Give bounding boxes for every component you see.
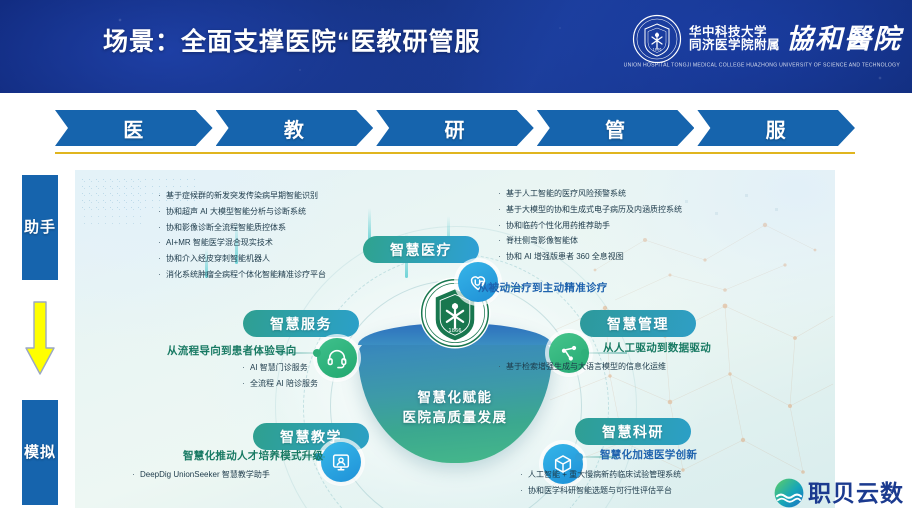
list-item: ·DeepDig UnionSeeker 智慧教学助手 <box>127 467 270 483</box>
bullets-smart-education: ·DeepDig UnionSeeker 智慧教学助手 <box>127 467 270 483</box>
chevron-step-jiao[interactable]: 教 <box>216 110 374 146</box>
list-item: ·协和介入经皮穿刺智能机器人 <box>153 251 326 267</box>
chevron-label: 教 <box>284 114 305 143</box>
list-item: ·人工智能 + 重大慢病新药临床试验管理系统 <box>515 467 681 483</box>
list-item: ·AI+MR 智能医学混合现实技术 <box>153 235 326 251</box>
list-item: ·脊柱侧弯影像智能体 <box>493 233 682 249</box>
tagline-smart-management: 从人工驱动到数据驱动 <box>603 340 711 355</box>
bullet-dot-icon: · <box>153 204 166 220</box>
bullet-dot-icon: · <box>493 233 506 249</box>
bullet-dot-icon: · <box>153 188 166 204</box>
svg-text:1866: 1866 <box>448 328 461 334</box>
bullet-text: 全流程 AI 陪诊服务 <box>250 376 318 392</box>
section-pill-smart-medical[interactable]: 智慧医疗 <box>363 236 479 263</box>
bullets-smart-medical-right: ·基于人工智能的医疗风险预警系统 ·基于大模型的协和生成式电子病历及内涵质控系统… <box>493 186 682 265</box>
logo-cn-lines: 华中科技大学 同济医学院附属 <box>689 26 780 53</box>
svg-text:1866: 1866 <box>653 48 662 52</box>
chevron-label: 研 <box>444 114 465 143</box>
list-item: ·消化系统肿瘤全病程个体化智能精准诊疗平台 <box>153 267 326 283</box>
watermark-logo: 职贝云数 <box>773 477 904 509</box>
chevron-step-yi[interactable]: 医 <box>55 110 213 146</box>
tagline-smart-service: 从流程导向到患者体验导向 <box>167 343 297 358</box>
bullet-dot-icon: · <box>153 267 166 283</box>
chevron-step-fu[interactable]: 服 <box>697 110 855 146</box>
headset-icon <box>317 338 357 378</box>
bullets-smart-medical-left: ·基于症候群的新发突发传染病早期智能识别 ·协和超声 AI 大模型智能分析与诊断… <box>153 188 326 283</box>
bullet-dot-icon: · <box>493 359 506 375</box>
hub-line-2: 医院高质量发展 <box>358 408 552 428</box>
pill-label: 智慧医疗 <box>390 240 452 260</box>
bullet-text: 协和介入经皮穿刺智能机器人 <box>166 251 270 267</box>
bullet-dot-icon: · <box>153 251 166 267</box>
connector-knob <box>581 349 589 357</box>
logo-cn-line2: 同济医学院附属 <box>689 39 780 52</box>
list-item: ·基于症候群的新发突发传染病早期智能识别 <box>153 188 326 204</box>
bullet-dot-icon: · <box>515 483 528 499</box>
list-item: ·基于检索增强生成与大语言模型的信息化运维 <box>493 359 666 375</box>
teaching-board-icon <box>321 442 361 482</box>
decorative-dot-grid-2 <box>81 178 147 228</box>
rail-assistant-text: 助手 <box>24 219 56 236</box>
chevron-step-yan[interactable]: 研 <box>376 110 534 146</box>
hospital-logo: 1866 华中科技大学 同济医学院附属 協和醫院 <box>632 14 902 64</box>
slide-header: 场景：全面支撑医院“医教研管服 1866 华中科技大学 同济医学院附属 協和醫院… <box>0 0 912 93</box>
bullet-dot-icon: · <box>153 220 166 236</box>
diagram-canvas: 智慧化赋能 医院高质量发展 1866 智慧医疗 <box>75 170 835 508</box>
bullet-text: 协和临药个性化用药推荐助手 <box>506 218 610 234</box>
bullet-text: 人工智能 + 重大慢病新药临床试验管理系统 <box>528 467 681 483</box>
wave-circle-logo-icon <box>773 477 805 509</box>
union-hospital-crest-icon: 1866 <box>632 14 682 64</box>
bullets-smart-research: ·人工智能 + 重大慢病新药临床试验管理系统 ·协和医学科研智能选题与可行性评估… <box>515 467 681 499</box>
pill-label: 智慧管理 <box>607 314 669 334</box>
section-pill-smart-management[interactable]: 智慧管理 <box>580 310 696 337</box>
hub-text: 智慧化赋能 医院高质量发展 <box>358 388 552 428</box>
list-item: ·全流程 AI 陪诊服务 <box>237 376 318 392</box>
rail-label-simulation: 模拟 <box>22 400 58 505</box>
logo-wordmark: 华中科技大学 同济医学院附属 協和醫院 <box>689 26 902 53</box>
bullet-text: 协和超声 AI 大模型智能分析与诊断系统 <box>166 204 306 220</box>
chevron-step-guan[interactable]: 管 <box>537 110 695 146</box>
bullet-dot-icon: · <box>237 360 250 376</box>
section-pill-smart-service[interactable]: 智慧服务 <box>243 310 359 337</box>
bullet-dot-icon: · <box>493 249 506 265</box>
bullets-smart-management: ·基于检索增强生成与大语言模型的信息化运维 <box>493 359 666 375</box>
bullet-text: 协和影像诊断全流程智能质控体系 <box>166 220 286 236</box>
bullet-dot-icon: · <box>493 202 506 218</box>
connector-knob <box>313 349 321 357</box>
bullet-text: AI+MR 智能医学混合现实技术 <box>166 235 273 251</box>
slide-root: 场景：全面支撑医院“医教研管服 1866 华中科技大学 同济医学院附属 協和醫院… <box>0 0 912 515</box>
bullet-text: 基于检索增强生成与大语言模型的信息化运维 <box>506 359 666 375</box>
tagline-smart-medical: 从被动治疗到主动精准诊疗 <box>478 280 608 295</box>
chevron-label: 医 <box>123 114 144 143</box>
page-title: 场景：全面支撑医院“医教研管服 <box>103 22 481 58</box>
bullet-text: 协和 AI 增强版患者 360 全息视图 <box>506 249 624 265</box>
bullet-dot-icon: · <box>127 467 140 483</box>
list-item: ·协和影像诊断全流程智能质控体系 <box>153 220 326 236</box>
rail-simulation-text: 模拟 <box>24 444 56 461</box>
bullet-dot-icon: · <box>153 235 166 251</box>
bullet-text: 基于症候群的新发突发传染病早期智能识别 <box>166 188 318 204</box>
logo-english-name: UNION HOSPITAL TONGJI MEDICAL COLLEGE HU… <box>624 62 900 69</box>
bullet-dot-icon: · <box>515 467 528 483</box>
chevron-label: 管 <box>605 114 626 143</box>
list-item: ·AI 智慧门诊服务 <box>237 360 318 376</box>
bullet-text: AI 智慧门诊服务 <box>250 360 308 376</box>
list-item: ·协和 AI 增强版患者 360 全息视图 <box>493 249 682 265</box>
bullet-text: 协和医学科研智能选题与可行性评估平台 <box>528 483 672 499</box>
down-arrow-icon <box>24 300 56 378</box>
chevron-label: 服 <box>766 114 787 143</box>
tagline-smart-education: 智慧化推动人才培养模式升级 <box>183 448 323 463</box>
bullet-dot-icon: · <box>493 218 506 234</box>
bullet-text: 基于大模型的协和生成式电子病历及内涵质控系统 <box>506 202 682 218</box>
list-item: ·协和医学科研智能选题与可行性评估平台 <box>515 483 681 499</box>
watermark-text: 职贝云数 <box>808 482 904 505</box>
bullet-dot-icon: · <box>493 186 506 202</box>
logo-brand: 協和醫院 <box>786 26 902 53</box>
tagline-smart-research: 智慧化加速医学创新 <box>600 447 697 462</box>
list-item: ·基于人工智能的医疗风险预警系统 <box>493 186 682 202</box>
process-chevron-bar: 医 教 研 管 服 <box>55 110 855 146</box>
pill-label: 智慧服务 <box>270 314 332 334</box>
hub-line-1: 智慧化赋能 <box>358 388 552 408</box>
list-item: ·基于大模型的协和生成式电子病历及内涵质控系统 <box>493 202 682 218</box>
rail-label-assistant: 助手 <box>22 175 58 280</box>
pill-label: 智慧科研 <box>602 422 664 442</box>
bullets-smart-service: ·AI 智慧门诊服务 ·全流程 AI 陪诊服务 <box>237 360 318 392</box>
list-item: ·协和临药个性化用药推荐助手 <box>493 218 682 234</box>
section-pill-smart-research[interactable]: 智慧科研 <box>575 418 691 445</box>
connector-knob <box>575 453 583 461</box>
list-item: ·协和超声 AI 大模型智能分析与诊断系统 <box>153 204 326 220</box>
gold-divider <box>55 152 855 154</box>
bullet-text: 基于人工智能的医疗风险预警系统 <box>506 186 626 202</box>
bullet-text: 脊柱侧弯影像智能体 <box>506 233 578 249</box>
bullet-dot-icon: · <box>237 376 250 392</box>
bullet-text: DeepDig UnionSeeker 智慧教学助手 <box>140 467 270 483</box>
bullet-text: 消化系统肿瘤全病程个体化智能精准诊疗平台 <box>166 267 326 283</box>
